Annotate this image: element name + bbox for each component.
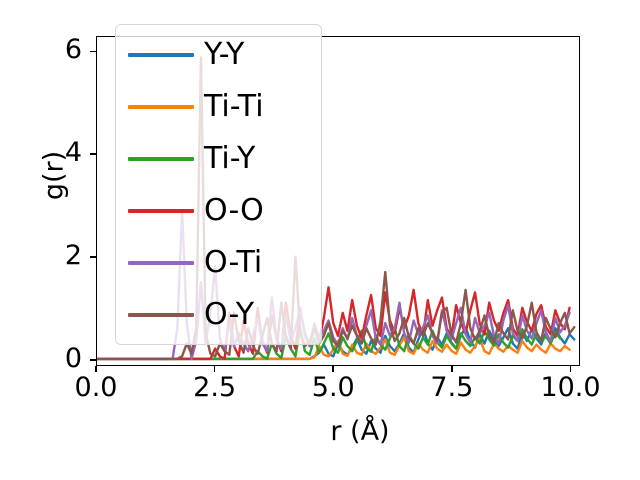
legend-label: O-Y <box>204 300 254 330</box>
legend-item-o-y[interactable]: O-Y <box>116 305 321 325</box>
legend-swatch-icon <box>128 105 194 109</box>
figure-canvas: g(r) 0246 0.02.55.07.510.0 r (Å) Y-YTi-T… <box>0 0 640 480</box>
x-axis-label-text: r (Å) <box>250 416 389 447</box>
legend-swatch-icon <box>128 313 194 317</box>
legend-label: Ti-Ti <box>204 92 264 122</box>
legend-swatch-icon <box>128 209 194 213</box>
y-axis-label: g(r) <box>39 116 70 236</box>
x-tick-label: 7.5 <box>392 374 512 401</box>
legend-label: Ti-Y <box>204 144 255 174</box>
legend-item-o-ti[interactable]: O-Ti <box>116 253 321 273</box>
legend-swatch-icon <box>128 261 194 265</box>
legend-item-y-y[interactable]: Y-Y <box>116 45 321 65</box>
legend-item-ti-y[interactable]: Ti-Y <box>116 149 321 169</box>
x-tick-label: 5.0 <box>273 374 393 401</box>
legend-item-ti-ti[interactable]: Ti-Ti <box>116 97 321 117</box>
legend-label: Y-Y <box>204 40 244 70</box>
legend-item-o-o[interactable]: O-O <box>116 201 321 221</box>
y-tick-label: 2 <box>22 242 82 269</box>
x-tick-label: 2.5 <box>155 374 275 401</box>
legend-box: Y-YTi-TiTi-YO-OO-TiO-Y <box>115 24 322 345</box>
legend-swatch-icon <box>128 53 194 57</box>
x-tick-label: 10.0 <box>511 374 631 401</box>
legend-swatch-icon <box>128 157 194 161</box>
legend-label: O-O <box>204 196 264 226</box>
y-tick-label: 0 <box>22 345 82 372</box>
x-tick-label: 0.0 <box>36 374 156 401</box>
y-tick-label: 4 <box>22 139 82 166</box>
y-tick-label: 6 <box>22 36 82 63</box>
x-axis-label: r (Å) <box>0 416 640 447</box>
legend-label: O-Ti <box>204 248 262 278</box>
